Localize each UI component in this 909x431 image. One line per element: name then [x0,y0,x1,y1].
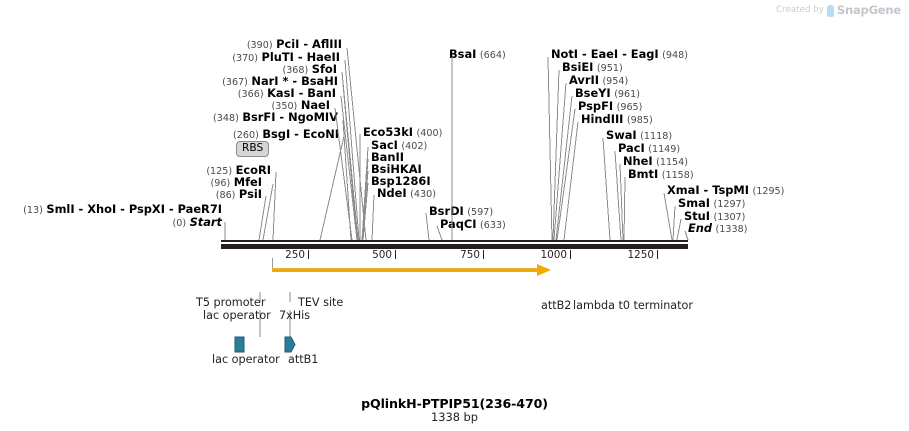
enzyme-name: BsiEI [562,60,593,74]
plasmid-map: Created by SnapGene (13) SmlI - XhoI - P… [0,0,909,431]
watermark-prefix: Created by [776,5,824,15]
enzyme-label-nari-bsahi[interactable]: (367) NarI * - BsaHI [222,75,338,89]
enzyme-name: PacI [618,141,645,155]
enzyme-position: (366) [238,89,264,100]
orf-arrow-shaft [272,268,537,272]
rbs-feature-tag[interactable]: RBS [236,141,269,157]
feature-track-row2 [0,334,909,364]
enzyme-position: (1149) [648,144,680,155]
enzyme-label-pcii-afliii[interactable]: (390) PciI - AflIII [247,38,342,52]
watermark-brand: SnapGene [837,3,901,17]
enzyme-position: (125) [206,166,232,177]
enzyme-label-bsai[interactable]: BsaI (664) [449,48,506,62]
enzyme-label-mfei[interactable]: (96) MfeI [211,176,262,190]
enzyme-position: (348) [213,113,239,124]
enzyme-position: (260) [233,130,259,141]
feature-glyph-lac-operator-2nd[interactable] [235,337,244,352]
enzyme-name: NdeI [377,186,407,200]
ruler-tick-250 [308,250,309,259]
enzyme-name: BsgI - EcoNI [262,127,339,141]
enzyme-name: End [688,221,712,235]
enzyme-position: (402) [401,141,427,152]
orf-arrow[interactable] [272,266,551,274]
feature-label-7xhis[interactable]: 7xHis [279,309,310,322]
enzyme-position: (961) [614,89,640,100]
snapgene-logo-icon [827,5,834,17]
enzyme-name: NotI - EaeI - EagI [551,47,659,61]
enzyme-label-ecori[interactable]: (125) EcoRI [206,164,271,178]
enzyme-name: Start [190,215,222,229]
enzyme-name: AvrII [569,73,599,87]
enzyme-position: (367) [222,77,248,88]
enzyme-position: (1158) [662,170,694,181]
ruler-label-500: 500 [372,249,395,261]
enzyme-name: BseYI [575,86,611,100]
enzyme-position: (368) [282,65,308,76]
orf-arrow-head [537,264,551,276]
feature-label-t5-promoter[interactable]: T5 promoter [196,296,265,309]
enzyme-position: (985) [627,115,653,126]
enzyme-name: SmlI - XhoI - PspXI - PaeR7I [46,202,222,216]
enzyme-position: (1295) [753,186,785,197]
enzyme-position: (430) [410,189,436,200]
enzyme-position: (664) [480,50,506,61]
enzyme-label-bsgi-econi[interactable]: (260) BsgI - EcoNI [233,128,339,142]
feature-glyph-attb1-2nd[interactable] [285,337,295,352]
feature-label-tev-site[interactable]: TEV site [298,296,343,309]
enzyme-label-paqci[interactable]: PaqCI (633) [440,218,506,232]
plasmid-length: 1338 bp [0,410,909,424]
enzyme-label-psii[interactable]: (86) PsiI [216,188,262,202]
enzyme-name: SmaI [678,196,710,210]
enzyme-label-hindiii[interactable]: HindIII (985) [581,113,653,127]
plasmid-title: pQlinkH-PTPIP51(236-470) [0,396,909,411]
enzyme-position: (96) [211,178,231,189]
enzyme-name: NheI [623,154,653,168]
ruler-label-1000: 1000 [541,249,570,261]
ruler-tick-1000 [570,250,571,259]
enzyme-name: PciI - AflIII [276,37,342,51]
enzyme-position: (1338) [716,224,748,235]
enzyme-name: XmaI - TspMI [667,183,749,197]
enzyme-name: BsaI [449,47,476,61]
enzyme-label-bsrfi-ngomiv[interactable]: (348) BsrFI - NgoMIV [213,111,338,125]
enzyme-label-pluti-haeii[interactable]: (370) PluTI - HaeII [232,51,340,65]
enzyme-name: PaqCI [440,217,476,231]
enzyme-label-naei[interactable]: (350) NaeI [272,99,331,113]
ruler-tick-1250 [657,250,658,259]
enzyme-position: (400) [417,128,443,139]
ruler-label-250: 250 [285,249,308,261]
enzyme-name: PspFI [578,99,613,113]
plasmid-backbone-top-line [221,240,688,242]
enzyme-position: (86) [216,190,236,201]
enzyme-name: HindIII [581,112,623,126]
enzyme-position: (951) [597,63,623,74]
feature-label-lambda-t0-terminator[interactable]: lambda t0 terminator [573,299,693,312]
enzyme-name: PluTI - HaeII [262,50,340,64]
enzyme-position: (350) [272,101,298,112]
enzyme-position: (1297) [714,199,746,210]
enzyme-label-sfoi[interactable]: (368) SfoI [282,63,337,77]
enzyme-name: SwaI [606,128,637,142]
snapgene-watermark: Created by SnapGene [776,3,901,17]
enzyme-label-kasi-bani[interactable]: (366) KasI - BanI [238,87,336,101]
feature-label-attb2[interactable]: attB2 [541,299,571,312]
enzyme-name: EcoRI [236,163,271,177]
feature-label-lac-operator-top[interactable]: lac operator [203,309,271,322]
enzyme-name: BsrDI [429,204,464,218]
feature-track [0,276,909,316]
ruler-label-1250: 1250 [628,249,657,261]
enzyme-position: (390) [247,40,273,51]
ruler-tick-750 [483,250,484,259]
enzyme-name: Eco53kI [363,125,413,139]
enzyme-position: (948) [662,50,688,61]
enzyme-position: (0) [173,218,187,229]
enzyme-position: (1154) [656,157,688,168]
enzyme-label-ndei[interactable]: NdeI (430) [377,187,436,201]
enzyme-position: (633) [480,220,506,231]
enzyme-position: (13) [23,205,43,216]
enzyme-label-end[interactable]: End (1338) [688,222,747,236]
enzyme-name: BmtI [628,167,658,181]
enzyme-label-bmti[interactable]: BmtI (1158) [628,168,694,182]
ruler-tick-500 [395,250,396,259]
enzyme-position: (370) [232,53,258,64]
ruler-label-750: 750 [460,249,483,261]
enzyme-label-start[interactable]: (0) Start [173,216,223,230]
